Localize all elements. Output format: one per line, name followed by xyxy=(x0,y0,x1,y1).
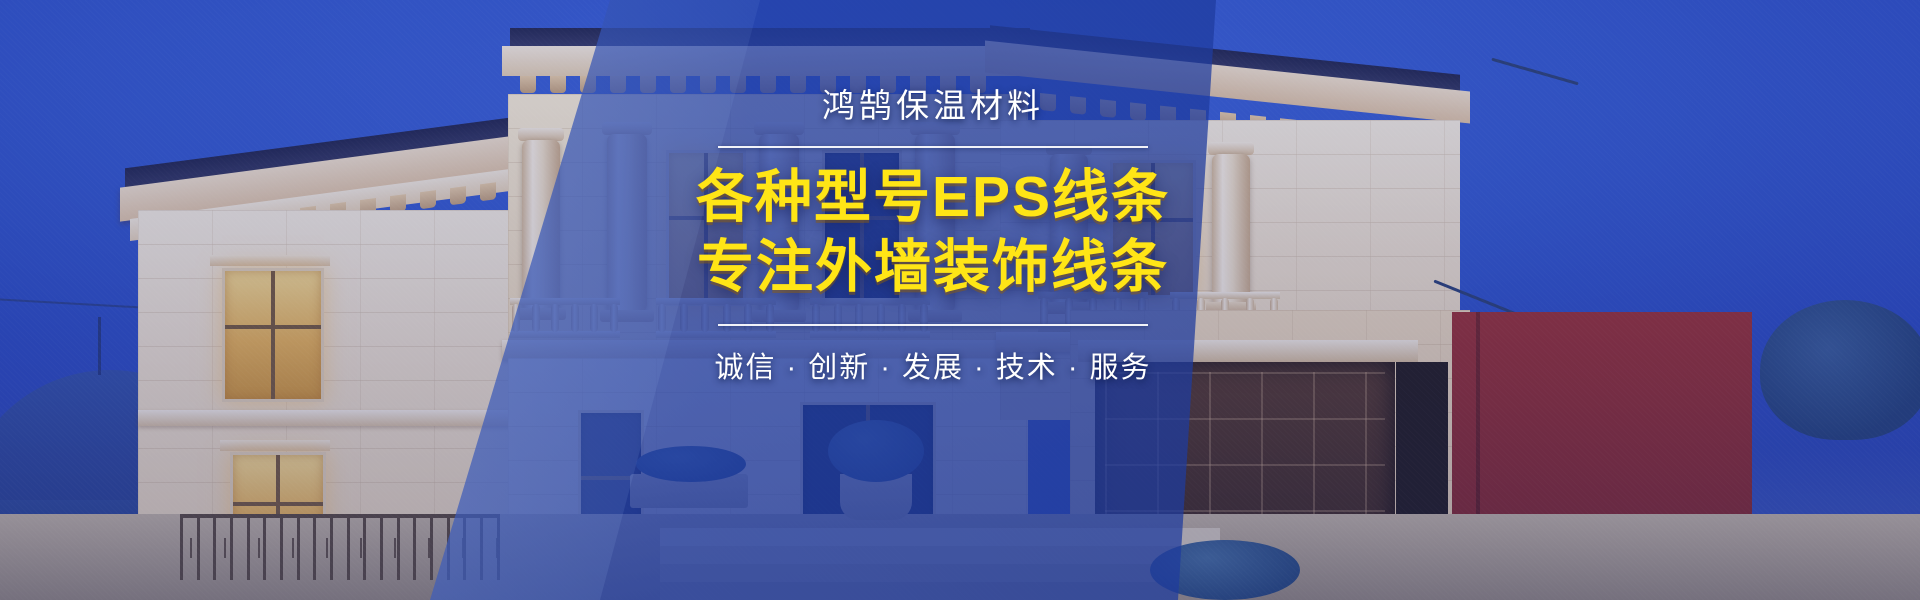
hero-banner: 鸿鹄保温材料 各种型号EPS线条 专注外墙装饰线条 诚信 · 创新 · 发展 ·… xyxy=(0,0,1920,600)
headline-line-1: 各种型号EPS线条 xyxy=(583,164,1283,230)
tagline: 诚信 · 创新 · 发展 · 技术 · 服务 xyxy=(583,344,1283,386)
divider-bottom xyxy=(718,324,1148,326)
banner-copy: 鸿鹄保温材料 各种型号EPS线条 专注外墙装饰线条 诚信 · 创新 · 发展 ·… xyxy=(583,86,1283,386)
brand-name: 鸿鹄保温材料 xyxy=(583,86,1283,126)
divider-top xyxy=(718,146,1148,148)
headline-line-2: 专注外墙装饰线条 xyxy=(583,234,1283,300)
